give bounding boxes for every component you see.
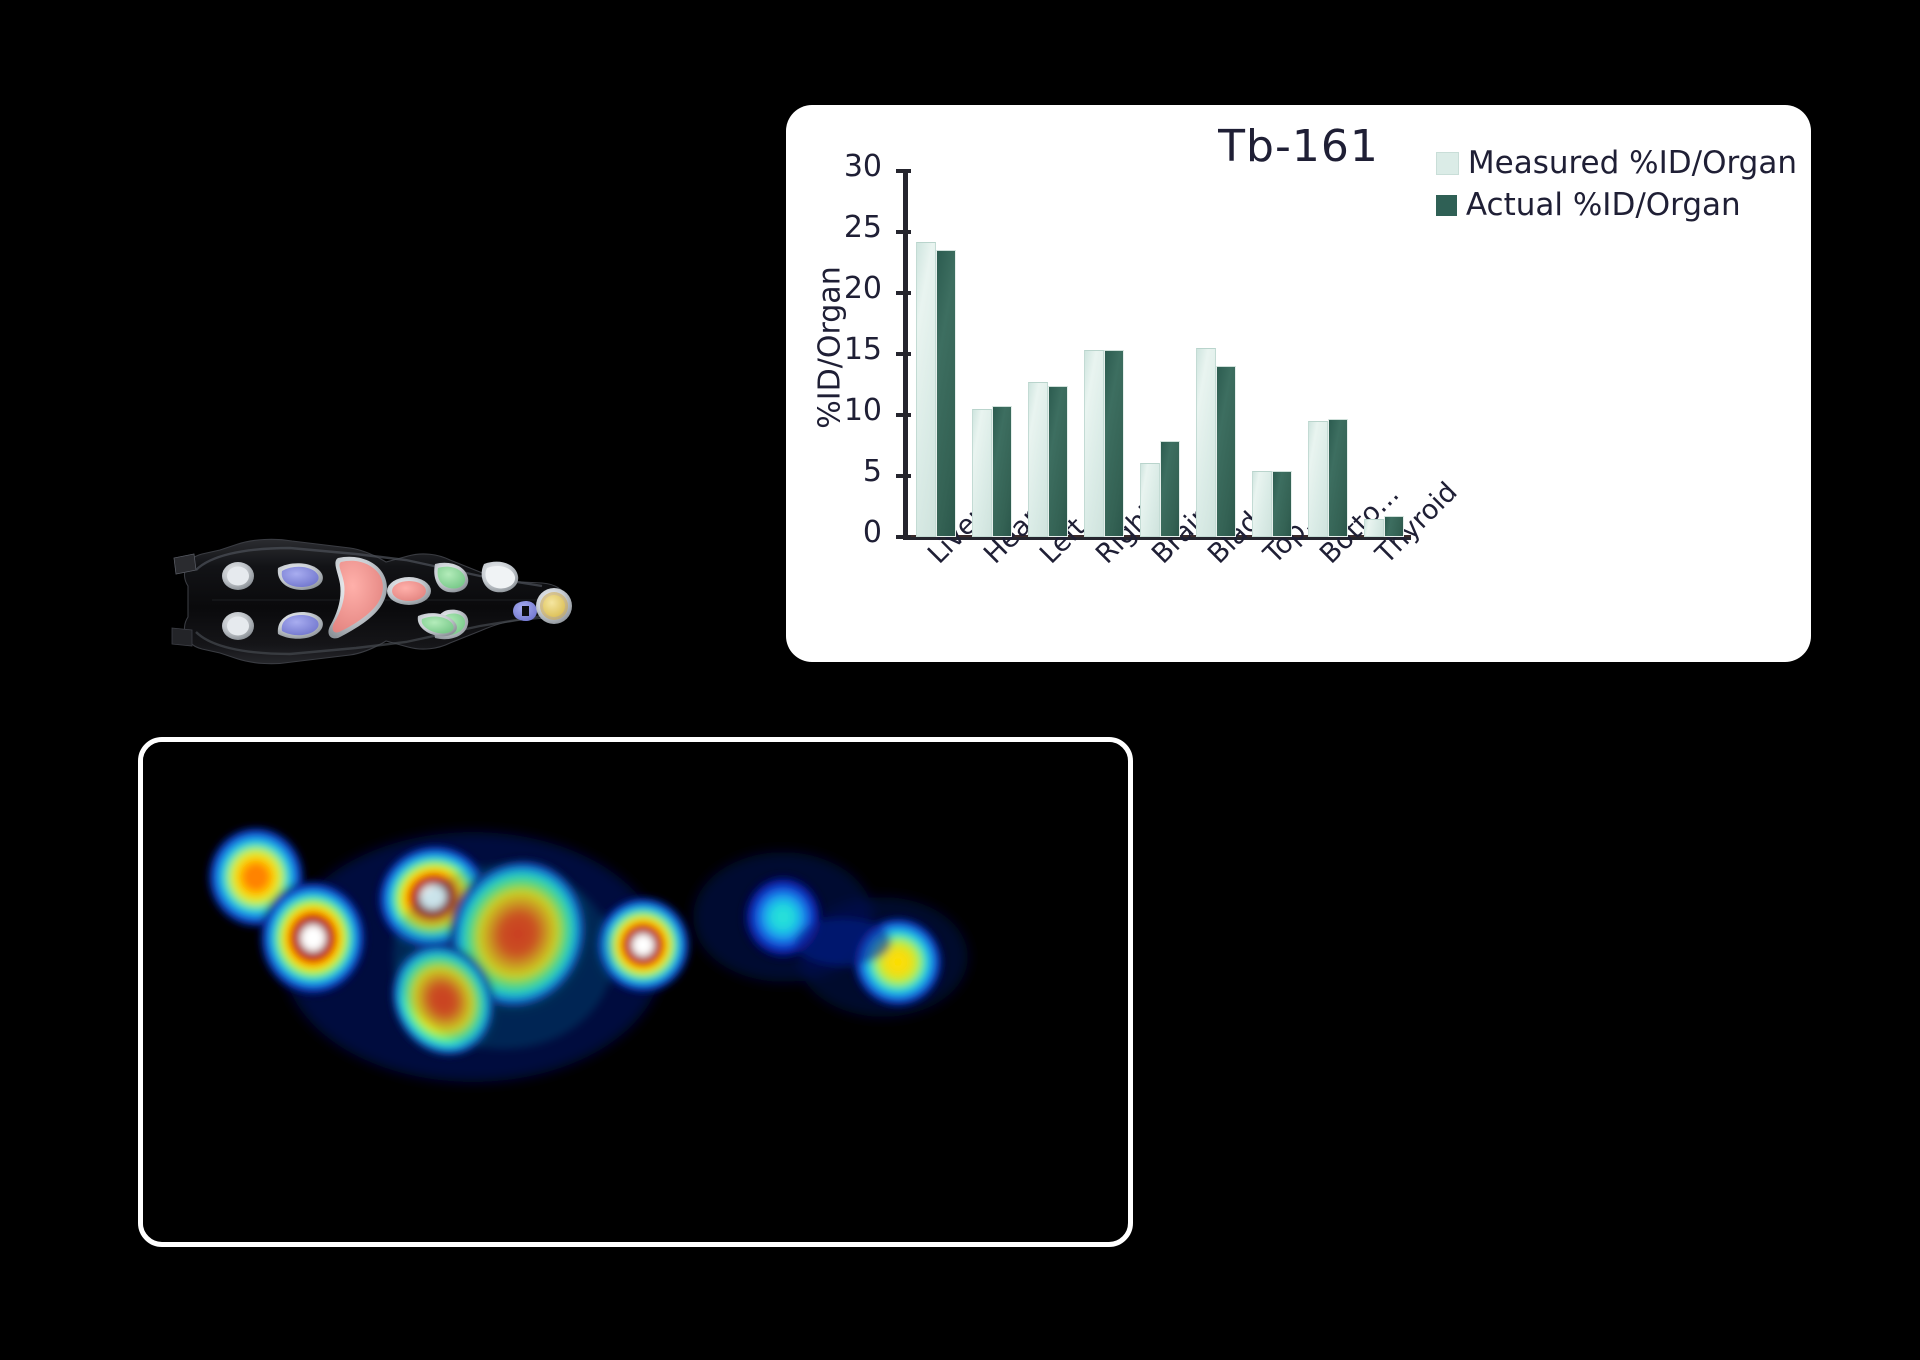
bar-group <box>1308 171 1348 537</box>
plot-area: %ID/Organ 051015202530 LiverHeartLeft...… <box>786 105 1811 662</box>
bar-actual <box>1048 386 1068 537</box>
chart-panel: Tb-161 Measured %ID/Organ Actual %ID/Org… <box>786 105 1811 662</box>
bar-measured <box>1308 421 1328 537</box>
phantom-ct-image <box>150 528 590 673</box>
y-tick-label-30: 30 <box>826 152 882 182</box>
bar-actual <box>992 406 1012 537</box>
phantom-svg <box>150 528 590 673</box>
bar-measured <box>972 409 992 537</box>
bar-measured <box>1084 350 1104 537</box>
y-tick-label-0: 0 <box>826 518 882 548</box>
bar-actual <box>1328 419 1348 537</box>
bar-group <box>916 171 956 537</box>
bar-group <box>1140 171 1180 537</box>
spect-heatmap-svg <box>143 742 1118 1232</box>
y-tick-label-10: 10 <box>826 396 882 426</box>
y-tick-label-25: 25 <box>826 213 882 243</box>
bar-group <box>1084 171 1124 537</box>
bar-measured <box>1364 519 1384 537</box>
bar-measured <box>1140 463 1160 537</box>
bar-group <box>1252 171 1292 537</box>
y-tick-label-5: 5 <box>826 457 882 487</box>
bar-actual <box>1272 471 1292 537</box>
bar-measured <box>1252 471 1272 537</box>
bar-actual <box>1216 366 1236 537</box>
bar-actual <box>1384 516 1404 537</box>
bar-measured <box>1196 348 1216 537</box>
bar-actual <box>936 250 956 537</box>
spect-image-panel <box>138 737 1133 1247</box>
bar-group <box>972 171 1012 537</box>
bar-actual <box>1160 441 1180 537</box>
bar-series-container <box>908 171 1412 537</box>
bar-group <box>1028 171 1068 537</box>
bar-group <box>1196 171 1236 537</box>
bar-measured <box>1028 382 1048 537</box>
y-tick-label-15: 15 <box>826 335 882 365</box>
y-tick-label-20: 20 <box>826 274 882 304</box>
bar-actual <box>1104 350 1124 537</box>
bar-measured <box>916 242 936 537</box>
